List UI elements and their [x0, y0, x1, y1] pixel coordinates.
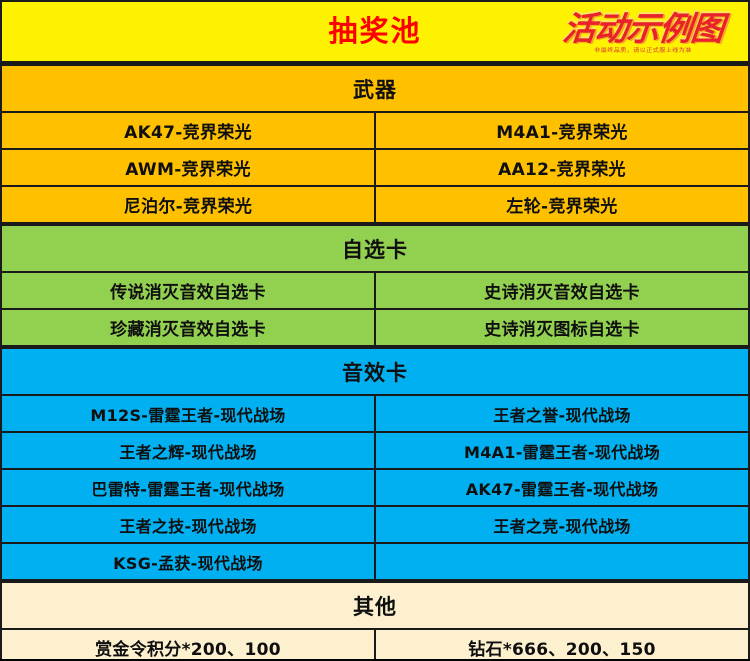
item-cell: AK47-竞界荣光 [1, 112, 375, 149]
table-row: 尼泊尔-竞界荣光 左轮-竞界荣光 [1, 186, 749, 223]
item-cell: 王者之竞-现代战场 [375, 506, 749, 543]
item-cell: M4A1-竞界荣光 [375, 112, 749, 149]
table-row: 珍藏消灭音效自选卡 史诗消灭图标自选卡 [1, 309, 749, 346]
item-cell: 巴雷特-雷霆王者-现代战场 [1, 469, 375, 506]
section-heading-row: 武器 [1, 65, 749, 112]
table-row: M12S-雷霆王者-现代战场 王者之誉-现代战场 [1, 395, 749, 432]
section-heading-row: 其他 [1, 582, 749, 629]
item-cell: AA12-竞界荣光 [375, 149, 749, 186]
section-heading-row: 自选卡 [1, 225, 749, 272]
section-other: 其他 赏金令积分*200、100 钻石*666、200、150 万化集市兑换币*… [0, 581, 750, 661]
banner-header: 抽奖池 活动示例图 非最终品质，请以正式服上线为准 [0, 0, 750, 64]
table-row: 王者之辉-现代战场 M4A1-雷霆王者-现代战场 [1, 432, 749, 469]
item-cell: 王者之辉-现代战场 [1, 432, 375, 469]
page-title: 抽奖池 [328, 17, 421, 46]
item-cell: AK47-雷霆王者-现代战场 [375, 469, 749, 506]
brand-logo: 活动示例图 非最终品质，请以正式服上线为准 [544, 4, 742, 62]
section-heading-weapons: 武器 [1, 65, 749, 112]
item-cell: 赏金令积分*200、100 [1, 629, 375, 661]
item-cell: KSG-孟获-现代战场 [1, 543, 375, 580]
table-row: KSG-孟获-现代战场 [1, 543, 749, 580]
section-weapons: 武器 AK47-竞界荣光 M4A1-竞界荣光 AWM-竞界荣光 AA12-竞界荣… [0, 64, 750, 224]
lottery-pool-infographic: 抽奖池 活动示例图 非最终品质，请以正式服上线为准 武器 AK47-竞界荣光 M… [0, 0, 750, 661]
item-cell: 史诗消灭音效自选卡 [375, 272, 749, 309]
item-cell: 王者之誉-现代战场 [375, 395, 749, 432]
section-heading-other: 其他 [1, 582, 749, 629]
item-cell: 珍藏消灭音效自选卡 [1, 309, 375, 346]
item-cell: 传说消灭音效自选卡 [1, 272, 375, 309]
item-cell: 史诗消灭图标自选卡 [375, 309, 749, 346]
table-row: 巴雷特-雷霆王者-现代战场 AK47-雷霆王者-现代战场 [1, 469, 749, 506]
item-cell: 王者之技-现代战场 [1, 506, 375, 543]
item-cell: 左轮-竞界荣光 [375, 186, 749, 223]
section-heading-row: 音效卡 [1, 348, 749, 395]
table-row: AK47-竞界荣光 M4A1-竞界荣光 [1, 112, 749, 149]
item-cell: 钻石*666、200、150 [375, 629, 749, 661]
item-cell: AWM-竞界荣光 [1, 149, 375, 186]
brand-logo-disclaimer: 非最终品质，请以正式服上线为准 [594, 48, 692, 53]
table-row: 赏金令积分*200、100 钻石*666、200、150 [1, 629, 749, 661]
section-sound-cards: 音效卡 M12S-雷霆王者-现代战场 王者之誉-现代战场 王者之辉-现代战场 M… [0, 347, 750, 581]
table-row: 传说消灭音效自选卡 史诗消灭音效自选卡 [1, 272, 749, 309]
section-heading-choice-cards: 自选卡 [1, 225, 749, 272]
item-cell: 尼泊尔-竞界荣光 [1, 186, 375, 223]
item-cell: M4A1-雷霆王者-现代战场 [375, 432, 749, 469]
table-row: AWM-竞界荣光 AA12-竞界荣光 [1, 149, 749, 186]
item-cell-empty [375, 543, 749, 580]
item-cell: M12S-雷霆王者-现代战场 [1, 395, 375, 432]
brand-logo-text: 活动示例图 [561, 12, 724, 45]
table-row: 王者之技-现代战场 王者之竞-现代战场 [1, 506, 749, 543]
section-heading-sound-cards: 音效卡 [1, 348, 749, 395]
section-choice-cards: 自选卡 传说消灭音效自选卡 史诗消灭音效自选卡 珍藏消灭音效自选卡 史诗消灭图标… [0, 224, 750, 347]
